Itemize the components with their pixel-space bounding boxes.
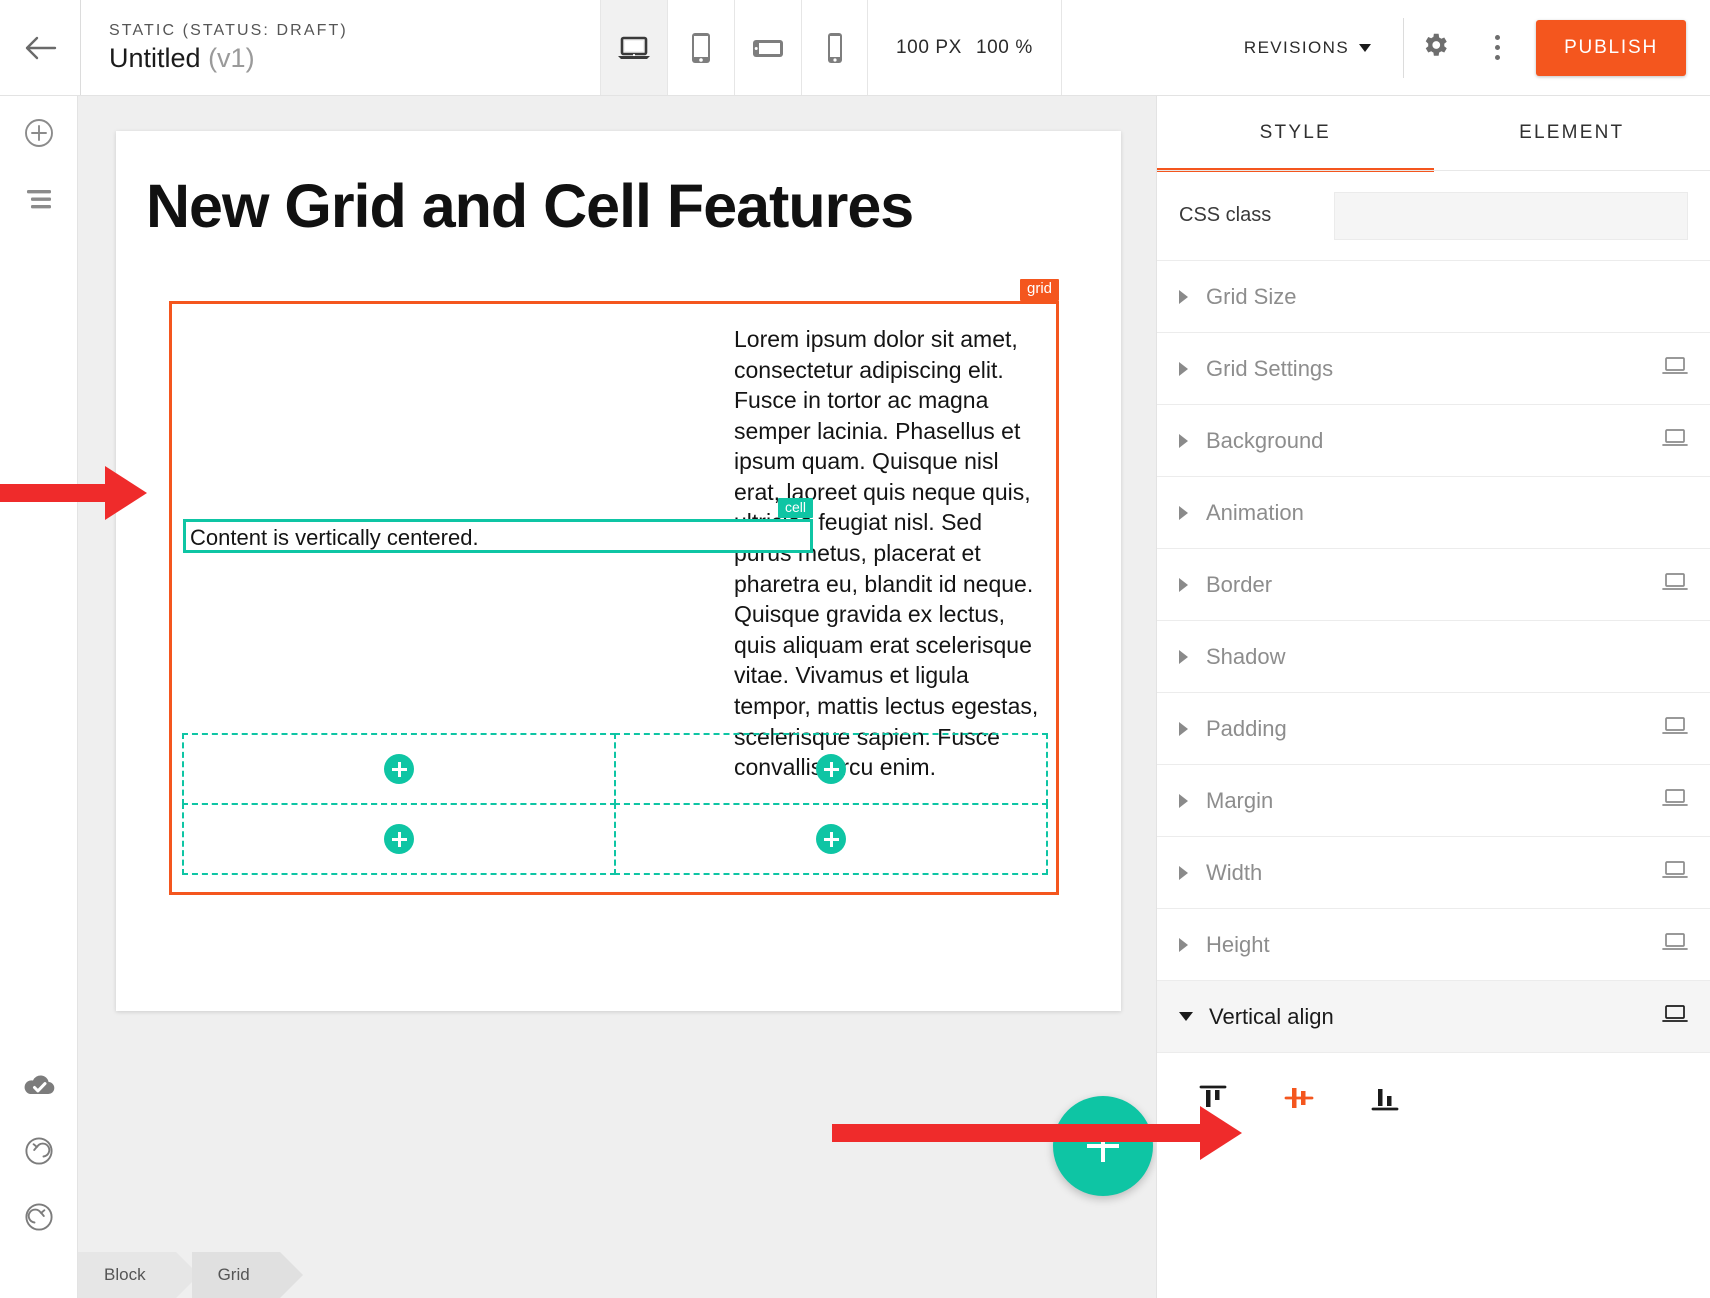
grid-badge: grid [1020, 279, 1059, 301]
empty-cell[interactable] [614, 733, 1048, 805]
responsive-device-icon[interactable] [1662, 788, 1688, 813]
left-sidebar-bottom-group [0, 1054, 78, 1252]
zoom-px-value: 100 PX [896, 37, 962, 59]
section-label: Grid Size [1206, 284, 1296, 310]
section-grid-settings[interactable]: Grid Settings [1157, 333, 1710, 405]
kebab-menu-icon [1495, 35, 1500, 60]
chevron-right-icon [1179, 578, 1188, 592]
chevron-right-icon [1179, 506, 1188, 520]
plus-icon [816, 824, 846, 854]
chevron-right-icon [1179, 794, 1188, 808]
responsive-device-icon[interactable] [1662, 356, 1688, 381]
layers-button[interactable] [0, 168, 78, 234]
responsive-device-icon[interactable] [1662, 572, 1688, 597]
device-tablet-portrait-button[interactable] [667, 0, 734, 95]
chevron-right-icon [1179, 290, 1188, 304]
zoom-indicator[interactable]: 100 PX 100 % [868, 0, 1062, 95]
plus-icon [384, 754, 414, 784]
tab-style[interactable]: STYLE [1157, 96, 1434, 170]
plus-circle-icon [23, 117, 55, 154]
publish-button[interactable]: PUBLISH [1536, 20, 1686, 76]
chevron-right-icon [1179, 362, 1188, 376]
style-sections: Grid Size Grid Settings Background Anima… [1157, 261, 1710, 1143]
add-cell-content-button[interactable] [816, 754, 846, 784]
cell-content-text: Content is vertically centered. [190, 525, 479, 551]
section-label: Width [1206, 860, 1262, 886]
section-label: Vertical align [1209, 1004, 1334, 1030]
top-toolbar: STATIC (STATUS: DRAFT) Untitled (v1) [0, 0, 1710, 96]
section-label: Shadow [1206, 644, 1286, 670]
tablet-landscape-icon [751, 35, 785, 61]
chevron-right-icon [1179, 938, 1188, 952]
document-title-block: STATIC (STATUS: DRAFT) Untitled (v1) [80, 0, 600, 95]
section-padding[interactable]: Padding [1157, 693, 1710, 765]
align-bottom-button[interactable] [1365, 1078, 1405, 1118]
tablet-portrait-icon [688, 31, 714, 65]
annotation-arrow-to-cell [0, 484, 145, 502]
plus-icon [384, 824, 414, 854]
section-label: Background [1206, 428, 1323, 454]
undo-icon [23, 1135, 55, 1172]
add-cell-content-button[interactable] [384, 824, 414, 854]
section-shadow[interactable]: Shadow [1157, 621, 1710, 693]
page-heading[interactable]: New Grid and Cell Features [116, 131, 1121, 240]
empty-cell[interactable] [182, 803, 616, 875]
mobile-icon [824, 31, 846, 65]
chevron-right-icon [1179, 650, 1188, 664]
section-label: Margin [1206, 788, 1273, 814]
section-animation[interactable]: Animation [1157, 477, 1710, 549]
responsive-device-icon[interactable] [1662, 428, 1688, 453]
more-options-button[interactable] [1466, 0, 1528, 95]
empty-cell[interactable] [614, 803, 1048, 875]
responsive-device-icon[interactable] [1662, 860, 1688, 885]
section-margin[interactable]: Margin [1157, 765, 1710, 837]
add-element-button[interactable] [0, 102, 78, 168]
chevron-down-icon [1179, 1012, 1193, 1021]
breadcrumb-item-grid[interactable]: Grid [192, 1252, 280, 1298]
device-tablet-landscape-button[interactable] [734, 0, 801, 95]
layers-icon [23, 186, 55, 217]
grid-inner: Lorem ipsum dolor sit amet, consectetur … [172, 304, 1056, 892]
toolbar-right-group: REVISIONS PUBLISH [1212, 0, 1710, 95]
gear-icon [1420, 30, 1450, 65]
section-label: Height [1206, 932, 1270, 958]
cell-element[interactable]: cell Content is vertically centered. [183, 519, 813, 553]
redo-icon [23, 1201, 55, 1238]
document-name: Untitled [109, 43, 201, 73]
document-version: (v1) [208, 43, 255, 73]
device-mobile-button[interactable] [801, 0, 868, 95]
canvas: New Grid and Cell Features grid Lorem ip… [78, 96, 1156, 1298]
left-sidebar-top-group [0, 96, 77, 234]
device-desktop-button[interactable] [600, 0, 667, 95]
plus-icon [816, 754, 846, 784]
css-class-label: CSS class [1179, 204, 1334, 227]
responsive-device-icon[interactable] [1662, 1004, 1688, 1029]
tabs-underline [1157, 170, 1710, 171]
saved-status-button[interactable] [0, 1054, 78, 1120]
add-cell-content-button[interactable] [816, 824, 846, 854]
section-width[interactable]: Width [1157, 837, 1710, 909]
section-label: Grid Settings [1206, 356, 1333, 382]
section-grid-size[interactable]: Grid Size [1157, 261, 1710, 333]
add-block-fab[interactable] [1053, 1096, 1153, 1196]
section-vertical-align[interactable]: Vertical align [1157, 981, 1710, 1053]
left-sidebar [0, 96, 78, 1298]
cell-badge: cell [778, 498, 813, 518]
back-button[interactable] [0, 0, 80, 95]
cloud-check-icon [21, 1072, 57, 1103]
page-sheet: New Grid and Cell Features grid Lorem ip… [116, 131, 1121, 1011]
arrow-left-icon [23, 33, 57, 63]
breadcrumb-item-block[interactable]: Block [78, 1252, 176, 1298]
align-middle-button[interactable] [1279, 1078, 1319, 1118]
revisions-dropdown[interactable]: REVISIONS [1212, 0, 1403, 95]
zoom-percent-value: 100 % [976, 37, 1033, 59]
empty-cells-grid [183, 734, 1047, 874]
redo-button[interactable] [0, 1186, 78, 1252]
section-label: Animation [1206, 500, 1304, 526]
chevron-right-icon [1179, 722, 1188, 736]
section-label: Padding [1206, 716, 1287, 742]
grid-element[interactable]: grid Lorem ipsum dolor sit amet, consect… [169, 301, 1059, 895]
css-class-row: CSS class [1157, 171, 1710, 261]
settings-button[interactable] [1404, 0, 1466, 95]
section-label: Border [1206, 572, 1272, 598]
chevron-right-icon [1179, 866, 1188, 880]
revisions-label: REVISIONS [1244, 38, 1349, 58]
responsive-device-icon[interactable] [1662, 932, 1688, 957]
section-background[interactable]: Background [1157, 405, 1710, 477]
tab-element[interactable]: ELEMENT [1434, 96, 1710, 170]
section-border[interactable]: Border [1157, 549, 1710, 621]
laptop-icon [616, 34, 652, 62]
page-title: Untitled (v1) [109, 43, 600, 74]
breadcrumb: Block Grid [78, 1252, 1156, 1298]
annotation-arrow-to-align-middle [832, 1124, 1022, 1142]
css-class-input[interactable] [1334, 192, 1688, 240]
chevron-down-icon [1359, 44, 1371, 52]
section-height[interactable]: Height [1157, 909, 1710, 981]
responsive-device-icon[interactable] [1662, 716, 1688, 741]
device-preview-group [600, 0, 868, 95]
empty-cell[interactable] [182, 733, 616, 805]
chevron-right-icon [1179, 434, 1188, 448]
undo-button[interactable] [0, 1120, 78, 1186]
add-cell-content-button[interactable] [384, 754, 414, 784]
document-status: STATIC (STATUS: DRAFT) [109, 21, 600, 42]
panel-tabs: STYLE ELEMENT [1157, 96, 1710, 170]
